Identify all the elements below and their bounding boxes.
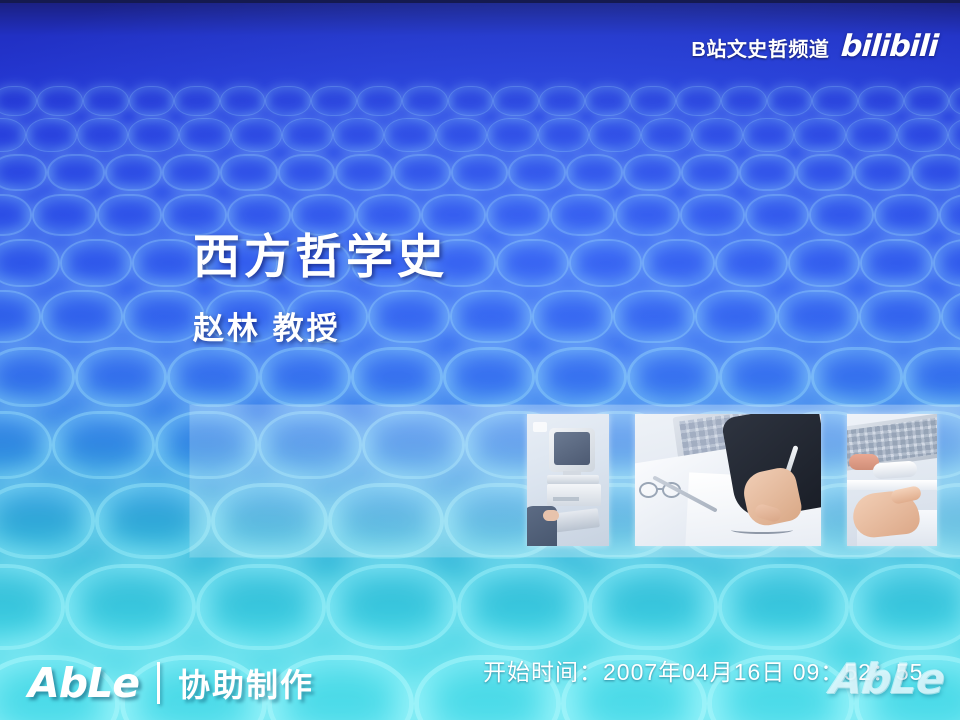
- mesh-cell: [642, 239, 715, 287]
- mesh-cell: [259, 347, 351, 407]
- mesh-cell: [613, 290, 695, 344]
- mesh-cell: [532, 290, 614, 344]
- mesh-cell: [681, 154, 739, 192]
- mesh-cell: [496, 239, 569, 287]
- mesh-cell: [436, 118, 487, 152]
- mesh-cell: [933, 239, 960, 287]
- mesh-cell: [854, 154, 912, 192]
- mesh-row: [0, 239, 960, 287]
- desk-edge: [847, 480, 937, 490]
- mesh-cell: [0, 411, 52, 479]
- mesh-cell: [846, 118, 897, 152]
- mesh-cell: [487, 118, 538, 152]
- mesh-pattern-overlay: [0, 0, 960, 720]
- mesh-cell: [220, 154, 278, 192]
- mesh-row: [0, 564, 960, 650]
- mesh-cell: [384, 118, 435, 152]
- mesh-cell: [443, 347, 535, 407]
- mesh-cell: [196, 564, 327, 650]
- top-frame-line: [0, 0, 960, 3]
- mesh-cell: [859, 290, 941, 344]
- mesh-cell: [939, 194, 960, 237]
- mesh-cell: [874, 194, 939, 237]
- mesh-cell: [695, 290, 777, 344]
- mesh-cell: [174, 86, 220, 116]
- mesh-cell: [448, 86, 494, 116]
- handwriting-mark: [731, 526, 793, 534]
- mesh-cell: [858, 86, 904, 116]
- mesh-cell: [849, 564, 960, 650]
- mesh-cell: [493, 86, 539, 116]
- mesh-cell: [335, 154, 393, 192]
- mesh-cell: [788, 239, 861, 287]
- header: B站文史哲频道 bilibili: [691, 32, 938, 62]
- mesh-cell: [75, 347, 167, 407]
- photo-crt-monitor-workstation: [527, 414, 609, 546]
- mesh-cell: [357, 86, 403, 116]
- mesh-cell: [37, 86, 83, 116]
- mesh-cell: [0, 564, 65, 650]
- mesh-cell: [77, 118, 128, 152]
- monitor-screen: [554, 432, 590, 465]
- mesh-cell: [569, 239, 642, 287]
- photo-hand-writing-with-pen: [635, 414, 821, 546]
- mesh-cell: [539, 86, 585, 116]
- mesh-cell: [179, 118, 230, 152]
- title-block: 西方哲学史 赵林 教授: [193, 232, 448, 348]
- mesh-cell: [97, 194, 162, 237]
- mesh-cell: [739, 154, 797, 192]
- mesh-cell: [105, 154, 163, 192]
- mesh-cell: [589, 118, 640, 152]
- mesh-row: [0, 194, 960, 237]
- mesh-cell: [641, 118, 692, 152]
- mesh-cell: [402, 86, 448, 116]
- channel-name: B站文史哲频道: [691, 33, 829, 62]
- mesh-cell: [333, 118, 384, 152]
- mesh-cell: [796, 154, 854, 192]
- mesh-cell: [32, 194, 97, 237]
- mesh-cell: [718, 564, 849, 650]
- mesh-cell: [535, 347, 627, 407]
- mesh-cell: [282, 118, 333, 152]
- mesh-cell: [265, 86, 311, 116]
- page-title: 西方哲学史: [193, 232, 448, 283]
- mesh-cell: [0, 483, 95, 559]
- mesh-cell: [538, 118, 589, 152]
- mesh-cell: [676, 86, 722, 116]
- mesh-cell: [809, 194, 874, 237]
- mesh-cell: [630, 86, 676, 116]
- hand-icon: [543, 510, 559, 521]
- mesh-cell: [128, 118, 179, 152]
- mesh-cell: [326, 564, 457, 650]
- mesh-cell: [721, 86, 767, 116]
- mesh-cell: [351, 347, 443, 407]
- mesh-cell: [941, 290, 960, 344]
- production-credit: AbLe 协助制作: [28, 660, 314, 706]
- page-subtitle: 赵林 教授: [193, 303, 448, 348]
- mesh-cell: [129, 86, 175, 116]
- mesh-cell: [0, 154, 47, 192]
- mesh-cell: [167, 347, 259, 407]
- computer-tower: [547, 484, 601, 506]
- mesh-cell: [743, 118, 794, 152]
- mesh-cell: [911, 154, 960, 192]
- able-watermark: AbLe: [828, 658, 946, 700]
- mesh-cell: [692, 118, 743, 152]
- mesh-cell: [60, 239, 133, 287]
- credit-label: 协助制作: [178, 660, 314, 706]
- mesh-cell: [393, 154, 451, 192]
- mesh-cell: [745, 194, 810, 237]
- mesh-cell: [904, 86, 950, 116]
- mesh-cell: [162, 154, 220, 192]
- monitor-base: [547, 475, 599, 484]
- credit-divider: [157, 662, 160, 704]
- mesh-cell: [451, 154, 509, 192]
- mesh-cell: [0, 194, 32, 237]
- mesh-cell: [627, 347, 719, 407]
- able-logo: AbLe: [28, 663, 139, 704]
- mesh-cell: [777, 290, 859, 344]
- mesh-row: [0, 118, 960, 152]
- mesh-cell: [47, 154, 105, 192]
- mesh-cell: [457, 564, 588, 650]
- mesh-cell: [680, 194, 745, 237]
- mesh-cell: [585, 86, 631, 116]
- mesh-cell: [52, 411, 155, 479]
- mesh-cell: [450, 290, 532, 344]
- mesh-cell: [0, 239, 60, 287]
- mesh-cell: [486, 194, 551, 237]
- mesh-cell: [767, 86, 813, 116]
- bilibili-logo: bilibili: [840, 32, 939, 62]
- mesh-cell: [0, 86, 37, 116]
- mesh-cell: [615, 194, 680, 237]
- mesh-cell: [566, 154, 624, 192]
- mesh-cell: [231, 118, 282, 152]
- mesh-cell: [623, 154, 681, 192]
- mesh-cell: [65, 564, 196, 650]
- mesh-cell: [0, 290, 41, 344]
- mesh-cell: [715, 239, 788, 287]
- mesh-cell: [903, 347, 960, 407]
- mesh-cell: [588, 564, 719, 650]
- photo-keyboard-and-hand: [847, 414, 937, 546]
- mesh-cell: [948, 118, 960, 152]
- mesh-cell: [812, 86, 858, 116]
- mesh-cell: [949, 86, 960, 116]
- mesh-cell: [550, 194, 615, 237]
- mesh-cell: [897, 118, 948, 152]
- mesh-row: [0, 347, 960, 407]
- window-highlight: [533, 422, 547, 432]
- photo-strip: [527, 414, 937, 546]
- mesh-cell: [860, 239, 933, 287]
- mesh-cell: [278, 154, 336, 192]
- mesh-cell: [0, 118, 26, 152]
- mesh-cell: [811, 347, 903, 407]
- slide-canvas: B站文史哲频道 bilibili 西方哲学史 赵林 教授: [0, 0, 960, 720]
- mesh-cell: [220, 86, 266, 116]
- mesh-cell: [508, 154, 566, 192]
- mesh-cell: [0, 347, 75, 407]
- mouse-icon: [872, 460, 917, 479]
- mesh-cell: [26, 118, 77, 152]
- mesh-row: [0, 154, 960, 192]
- mesh-cell: [41, 290, 123, 344]
- mesh-cell: [311, 86, 357, 116]
- mesh-cell: [794, 118, 845, 152]
- mesh-cell: [83, 86, 129, 116]
- mesh-cell: [719, 347, 811, 407]
- mesh-row: [0, 86, 960, 116]
- mesh-row: [0, 290, 960, 344]
